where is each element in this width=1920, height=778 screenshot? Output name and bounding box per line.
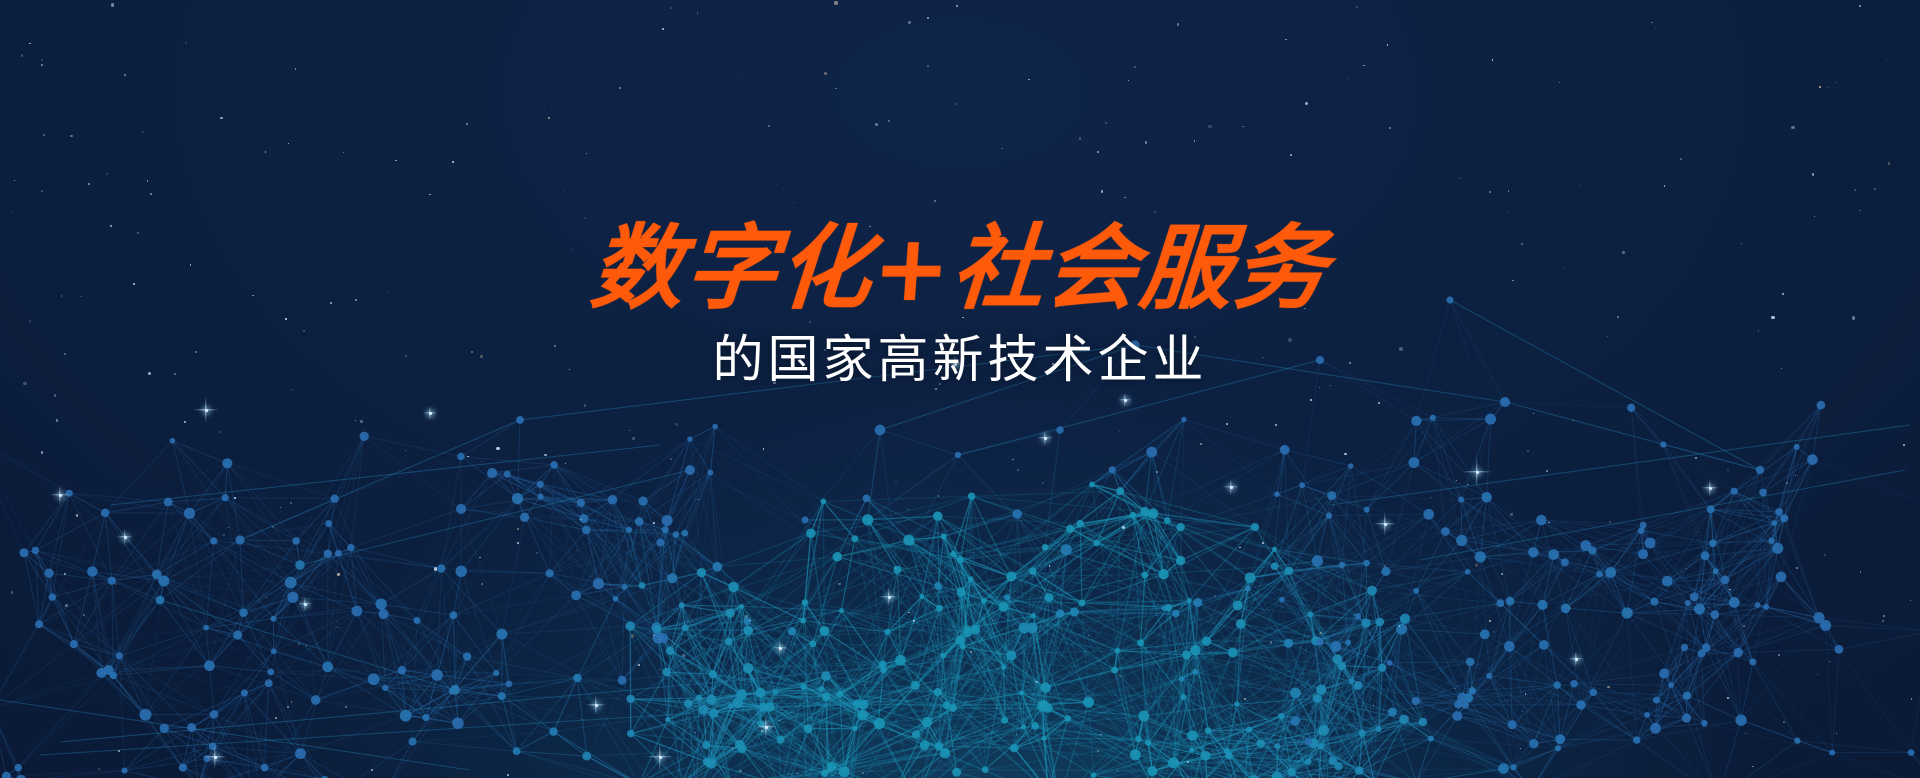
network-mesh-graphic xyxy=(0,0,1920,778)
hero-banner: 数字化+社会服务 的国家高新技术企业 xyxy=(0,0,1920,778)
